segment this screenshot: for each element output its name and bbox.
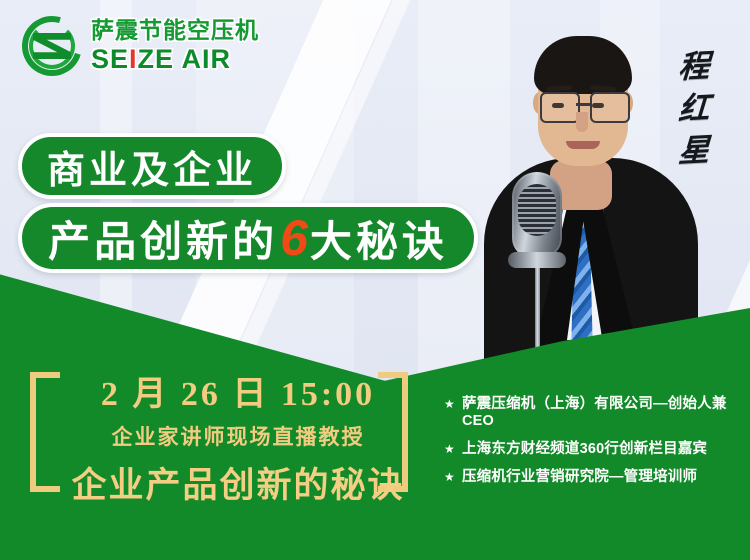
headline-number-six: 6 (278, 209, 310, 267)
list-item: ★ 上海东方财经频道360行创新栏目嘉宾 (444, 441, 744, 458)
glasses-bridge (576, 103, 590, 106)
brand-name-en: SEIZE AIR (91, 46, 259, 73)
hair (534, 36, 632, 94)
headline-pill-line1: 商业及企业 (18, 133, 286, 199)
speaker-name-char-2: 红 (671, 87, 717, 131)
list-item: ★ 压缩机行业营销研究院—管理培训师 (444, 469, 744, 486)
event-topic: 企业产品创新的秘诀 (44, 457, 432, 508)
list-item: ★ 萨震压缩机（上海）有限公司—创始人兼CEO (444, 396, 744, 430)
brand-en-accent-i: I (129, 44, 138, 74)
microphone-grill (518, 184, 556, 236)
headline-pill-line2: 产品创新的6大秘诀 (18, 203, 478, 273)
brand-wordmark: 萨震节能空压机 SEIZE AIR (91, 19, 259, 73)
lens-left (540, 92, 580, 123)
promo-poster: 萨震节能空压机 SEIZE AIR 商业及企业 产品创新的6大秘诀 程 红 星 … (0, 0, 750, 560)
star-icon: ★ (444, 396, 455, 413)
headline-line2-before: 产品创新的 (48, 208, 278, 269)
credential-text: 上海东方财经频道360行创新栏目嘉宾 (462, 441, 707, 458)
mouth (566, 141, 600, 149)
speaker-name-char-3: 星 (671, 129, 717, 173)
credential-text: 萨震压缩机（上海）有限公司—创始人兼CEO (462, 396, 744, 430)
nose (576, 112, 588, 132)
speaker-name-vertical: 程 红 星 (672, 46, 716, 172)
star-icon: ★ (444, 469, 455, 486)
microphone-base (508, 252, 566, 268)
speaker-name-char-1: 程 (671, 45, 717, 89)
credential-text: 压缩机行业营销研究院—管理培训师 (462, 469, 697, 486)
brand-name-cn: 萨震节能空压机 (91, 19, 259, 42)
brand-en-part2: ZE AIR (138, 44, 232, 74)
headline-line2-after: 大秘诀 (310, 208, 448, 269)
star-icon: ★ (444, 441, 455, 458)
brand-en-part1: SE (91, 44, 129, 74)
lens-right (590, 92, 630, 123)
event-datetime: 2 月 26 日 15:00 (44, 366, 432, 415)
brand-logo[interactable]: 萨震节能空压机 SEIZE AIR (22, 16, 259, 76)
sz-monogram-icon (22, 16, 82, 76)
headline-line1-text: 商业及企业 (47, 139, 257, 194)
event-details: 2 月 26 日 15:00 企业家讲师现场直播教授 企业产品创新的秘诀 (44, 366, 432, 508)
credentials-list: ★ 萨震压缩机（上海）有限公司—创始人兼CEO ★ 上海东方财经频道360行创新… (444, 396, 744, 497)
event-subtitle: 企业家讲师现场直播教授 (44, 421, 432, 451)
